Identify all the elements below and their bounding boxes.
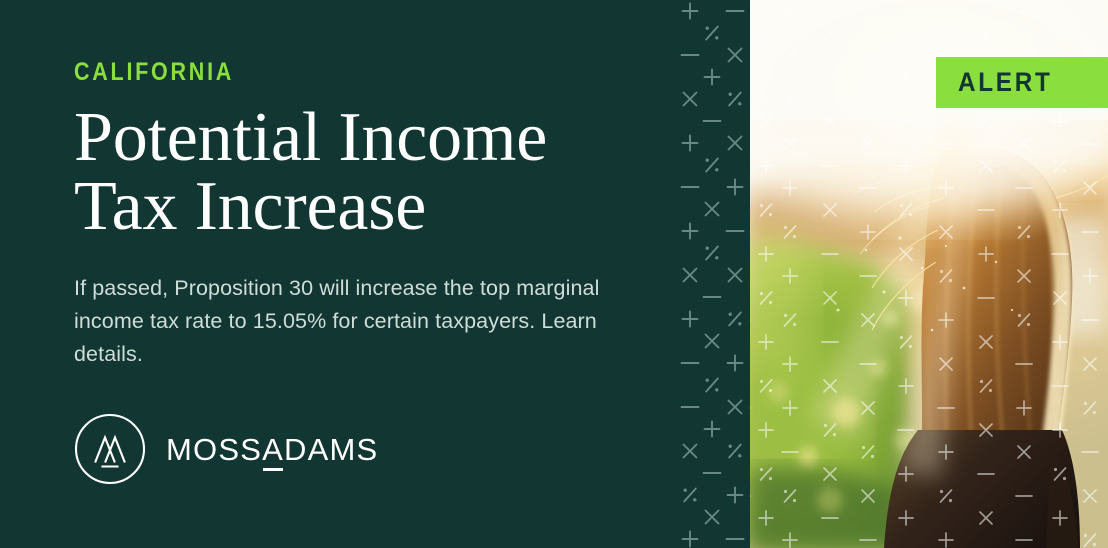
left-content-panel: CALIFORNIA Potential Income Tax Increase… xyxy=(0,0,750,548)
wordmark-part-1: MOSS xyxy=(166,432,262,467)
page-title-line-1: Potential Income xyxy=(74,103,654,172)
alert-badge: ALERT xyxy=(936,57,1108,108)
page-title: Potential Income Tax Increase xyxy=(74,103,654,242)
wordmark-part-2: DAMS xyxy=(284,432,378,467)
wordmark-underlined-a: A xyxy=(262,434,284,465)
page-title-line-2: Tax Increase xyxy=(74,172,654,241)
moss-adams-wordmark: MOSSADAMS xyxy=(166,434,378,465)
moss-adams-mountain-mark-icon xyxy=(74,413,146,485)
alert-banner: CALIFORNIA Potential Income Tax Increase… xyxy=(0,0,1108,548)
headline-block: CALIFORNIA Potential Income Tax Increase… xyxy=(74,60,654,372)
moss-adams-logo[interactable]: MOSSADAMS xyxy=(74,413,378,485)
description-text: If passed, Proposition 30 will increase … xyxy=(74,272,619,372)
alert-badge-label: ALERT xyxy=(958,67,1053,98)
eyebrow-label: CALIFORNIA xyxy=(74,60,573,85)
